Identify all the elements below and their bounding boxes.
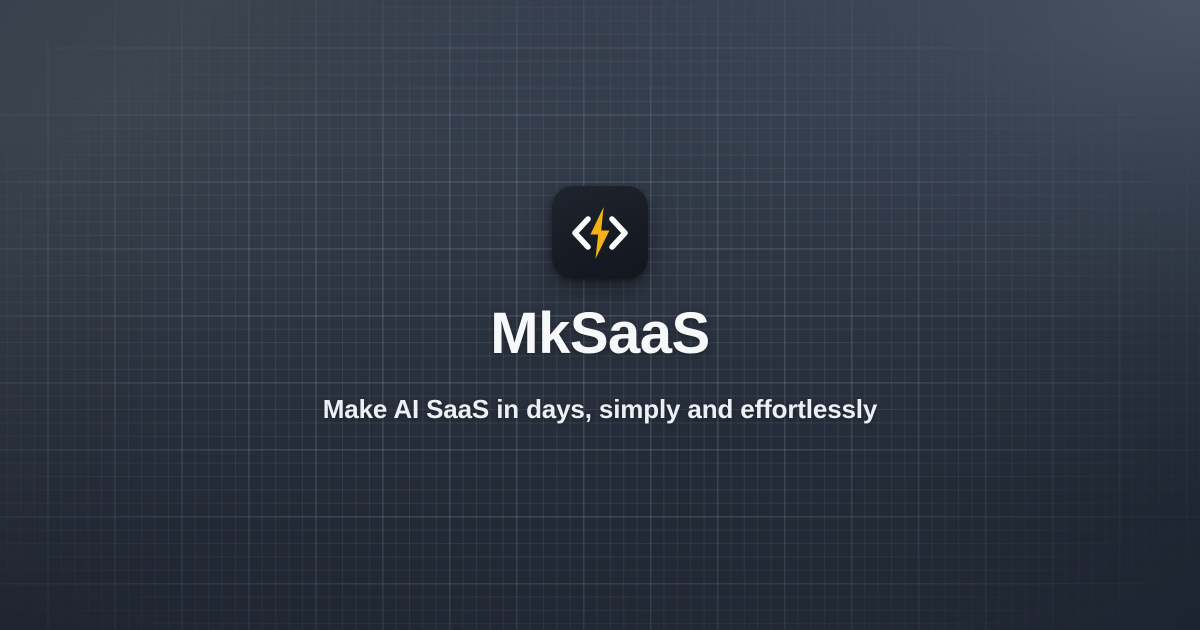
page-title: MkSaaS	[490, 305, 709, 363]
card-content: MkSaaS Make AI SaaS in days, simply and …	[0, 0, 1200, 630]
angle-bracket-left-icon	[575, 219, 588, 247]
tagline: Make AI SaaS in days, simply and effortl…	[323, 394, 877, 425]
mksaas-logo-tile	[552, 186, 648, 279]
og-card: MkSaaS Make AI SaaS in days, simply and …	[0, 0, 1200, 630]
mksaas-logo-mark	[568, 203, 632, 263]
lightning-bolt-icon	[590, 207, 609, 259]
angle-bracket-right-icon	[612, 219, 625, 247]
